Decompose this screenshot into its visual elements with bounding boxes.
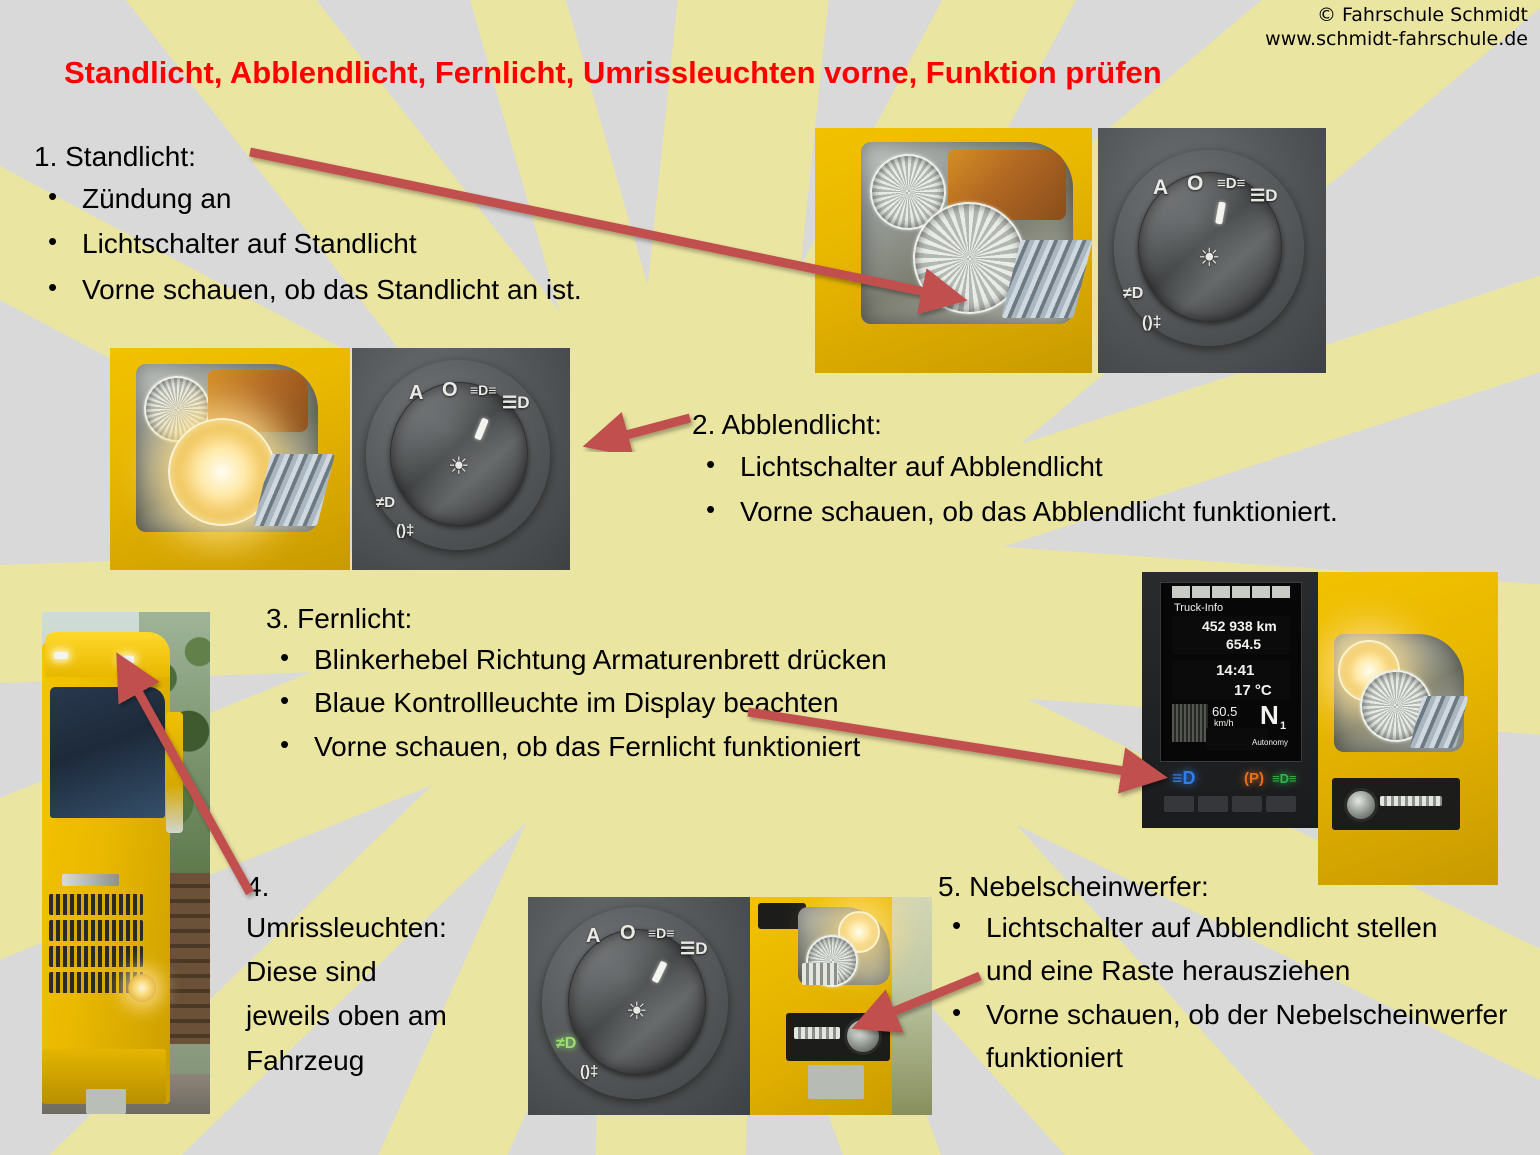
clock-value: 14:41 bbox=[1216, 662, 1254, 679]
bullet-item: Lichtschalter auf Abblendlicht bbox=[692, 444, 1332, 489]
radiator-grille bbox=[49, 946, 143, 967]
bumper-chrome-strip bbox=[1380, 796, 1442, 806]
side-mirror bbox=[166, 712, 183, 832]
bullet-item: Lichtschalter auf Abblendlicht stellen u… bbox=[938, 906, 1486, 993]
section-bullet-list: Lichtschalter auf Abblendlicht stellen u… bbox=[938, 906, 1498, 1080]
photo-switch-abblendlicht: A O ≡D≡ ☰D ☀ ≠D ()‡ bbox=[352, 348, 570, 570]
odometer-value: 452 938 km bbox=[1202, 618, 1277, 634]
number-plate bbox=[86, 1089, 126, 1114]
display-top-indicators bbox=[1172, 586, 1290, 598]
number-plate bbox=[808, 1065, 864, 1099]
brand-emblem bbox=[62, 874, 119, 886]
bullet-item: Lichtschalter auf Standlicht bbox=[34, 221, 734, 266]
mode-label: Autonomy bbox=[1252, 738, 1288, 747]
section-heading: 1. Standlicht: bbox=[34, 138, 734, 176]
fog-lamp-lens bbox=[844, 1017, 882, 1055]
switch-label-headlight: ☰D bbox=[680, 939, 708, 959]
section-abblendlicht: 2. Abblendlicht: Lichtschalter auf Abble… bbox=[692, 406, 1332, 535]
windscreen bbox=[50, 687, 164, 818]
marker-light bbox=[120, 656, 134, 663]
section-line: Umrissleuchten: bbox=[246, 906, 516, 950]
switch-label-fog-front: ≠D bbox=[1123, 285, 1143, 303]
switch-sun-icon: ☀ bbox=[1198, 243, 1220, 273]
photo-headlamp-high-beam-lit bbox=[1318, 572, 1498, 885]
photo-fog-lamp-bumper bbox=[750, 897, 932, 1115]
section-line: Diese sind bbox=[246, 950, 516, 994]
section-bullet-list: Blinkerhebel Richtung Armaturenbrett drü… bbox=[266, 638, 966, 768]
switch-label-headlight: ☰D bbox=[1250, 186, 1278, 206]
switch-sun-icon: ☀ bbox=[448, 452, 470, 481]
switch-label-headlight: ☰D bbox=[502, 393, 530, 413]
bullet-item: Vorne schauen, ob das Standlicht an ist. bbox=[34, 267, 734, 312]
bullet-item: Vorne schauen, ob das Abblendlicht funkt… bbox=[692, 489, 1340, 534]
photo-headlamp-parking-light bbox=[815, 128, 1092, 373]
bullet-item: Blaue Kontrollleuchte im Display beachte… bbox=[266, 681, 966, 724]
gear-indicator: N bbox=[1260, 700, 1279, 731]
section-bullet-list: Zündung an Lichtschalter auf Standlicht … bbox=[34, 176, 734, 312]
switch-sun-icon: ☀ bbox=[626, 997, 648, 1026]
bumper-chrome-strip bbox=[794, 1027, 840, 1039]
photo-switch-nebelscheinwerfer: A O ≡D≡ ☰D ☀ ≠D ()‡ bbox=[528, 897, 750, 1115]
bullet-item: Vorne schauen, ob das Fernlicht funktion… bbox=[266, 725, 966, 768]
headlamp-illuminated bbox=[128, 974, 156, 1002]
switch-label-parking-light: ≡D≡ bbox=[1217, 175, 1245, 192]
display-title: Truck-Info bbox=[1174, 602, 1223, 614]
switch-label-off: O bbox=[620, 922, 636, 945]
copyright-website: www.schmidt-fahrschule.de bbox=[1265, 28, 1528, 52]
copyright-block: © Fahrschule Schmidt www.schmidt-fahrsch… bbox=[1265, 4, 1528, 52]
switch-label-off: O bbox=[1187, 172, 1203, 196]
display-buttons[interactable] bbox=[1164, 796, 1296, 812]
switch-label-auto: A bbox=[1153, 176, 1168, 200]
section-nebelscheinwerfer: 5. Nebelscheinwerfer: Lichtschalter auf … bbox=[938, 868, 1498, 1079]
switch-label-parking-light: ≡D≡ bbox=[470, 382, 496, 398]
bullet-item: Zündung an bbox=[34, 176, 734, 221]
switch-label-fog-rear: ()‡ bbox=[580, 1063, 598, 1080]
high-beam-tell-tale-icon: ≡D bbox=[1172, 768, 1196, 789]
switch-label-fog-front: ≠D bbox=[376, 494, 395, 511]
lights-on-tell-tale-icon: ≡D≡ bbox=[1272, 771, 1297, 786]
radiator-grille bbox=[49, 920, 143, 941]
headlamp-chrome-strip bbox=[802, 963, 838, 985]
section-standlicht: 1. Standlicht: Zündung an Lichtschalter … bbox=[34, 138, 734, 312]
photo-headlamp-low-beam-lit bbox=[110, 348, 350, 570]
section-line: Fahrzeug bbox=[246, 1039, 516, 1083]
temperature-value: 17 °C bbox=[1234, 682, 1272, 699]
speed-gauge-bar bbox=[1172, 704, 1208, 742]
switch-label-parking-light: ≡D≡ bbox=[648, 925, 674, 941]
radiator-grille bbox=[49, 894, 143, 915]
slide-canvas: © Fahrschule Schmidt www.schmidt-fahrsch… bbox=[0, 0, 1540, 1155]
section-heading: 3. Fernlicht: bbox=[266, 600, 966, 638]
speed-value: 60.5 bbox=[1212, 704, 1237, 719]
section-heading: 4. bbox=[246, 868, 516, 906]
section-fernlicht: 3. Fernlicht: Blinkerhebel Richtung Arma… bbox=[266, 600, 966, 768]
marker-light bbox=[54, 652, 68, 659]
speed-unit: km/h bbox=[1214, 718, 1234, 728]
section-umrissleuchten: 4. Umrissleuchten: Diese sind jeweils ob… bbox=[246, 868, 516, 1083]
section-bullet-list: Lichtschalter auf Abblendlicht Vorne sch… bbox=[692, 444, 1332, 535]
section-line: jeweils oben am bbox=[246, 994, 516, 1038]
switch-label-auto: A bbox=[409, 382, 423, 405]
gear-sub-indicator: 1 bbox=[1280, 720, 1286, 732]
switch-label-fog-rear: ()‡ bbox=[1142, 314, 1162, 332]
park-brake-tell-tale-icon: (P) bbox=[1244, 770, 1264, 787]
photo-switch-standlicht: A O ≡D≡ ☰D ☀ ≠D ()‡ bbox=[1098, 128, 1326, 373]
bullet-item: Vorne schauen, ob der Nebelscheinwerfer … bbox=[938, 993, 1526, 1080]
copyright-owner: © Fahrschule Schmidt bbox=[1265, 4, 1528, 28]
photo-truck-front-marker-lights bbox=[42, 612, 210, 1114]
section-heading: 2. Abblendlicht: bbox=[692, 406, 1332, 444]
slide-title: Standlicht, Abblendlicht, Fernlicht, Umr… bbox=[64, 55, 1162, 91]
switch-label-fog-rear: ()‡ bbox=[396, 522, 414, 539]
fog-lamp bbox=[1344, 788, 1378, 822]
bullet-item: Blinkerhebel Richtung Armaturenbrett drü… bbox=[266, 638, 964, 681]
background-sliver bbox=[892, 897, 932, 1115]
switch-label-off: O bbox=[442, 379, 458, 402]
photo-instrument-cluster-high-beam: Truck-Info 452 938 km 654.5 14:41 17 °C … bbox=[1142, 572, 1318, 828]
switch-label-fog-front-active: ≠D bbox=[556, 1035, 576, 1053]
trip-value: 654.5 bbox=[1226, 636, 1261, 652]
switch-label-auto: A bbox=[586, 925, 600, 948]
section-heading: 5. Nebelscheinwerfer: bbox=[938, 868, 1498, 906]
